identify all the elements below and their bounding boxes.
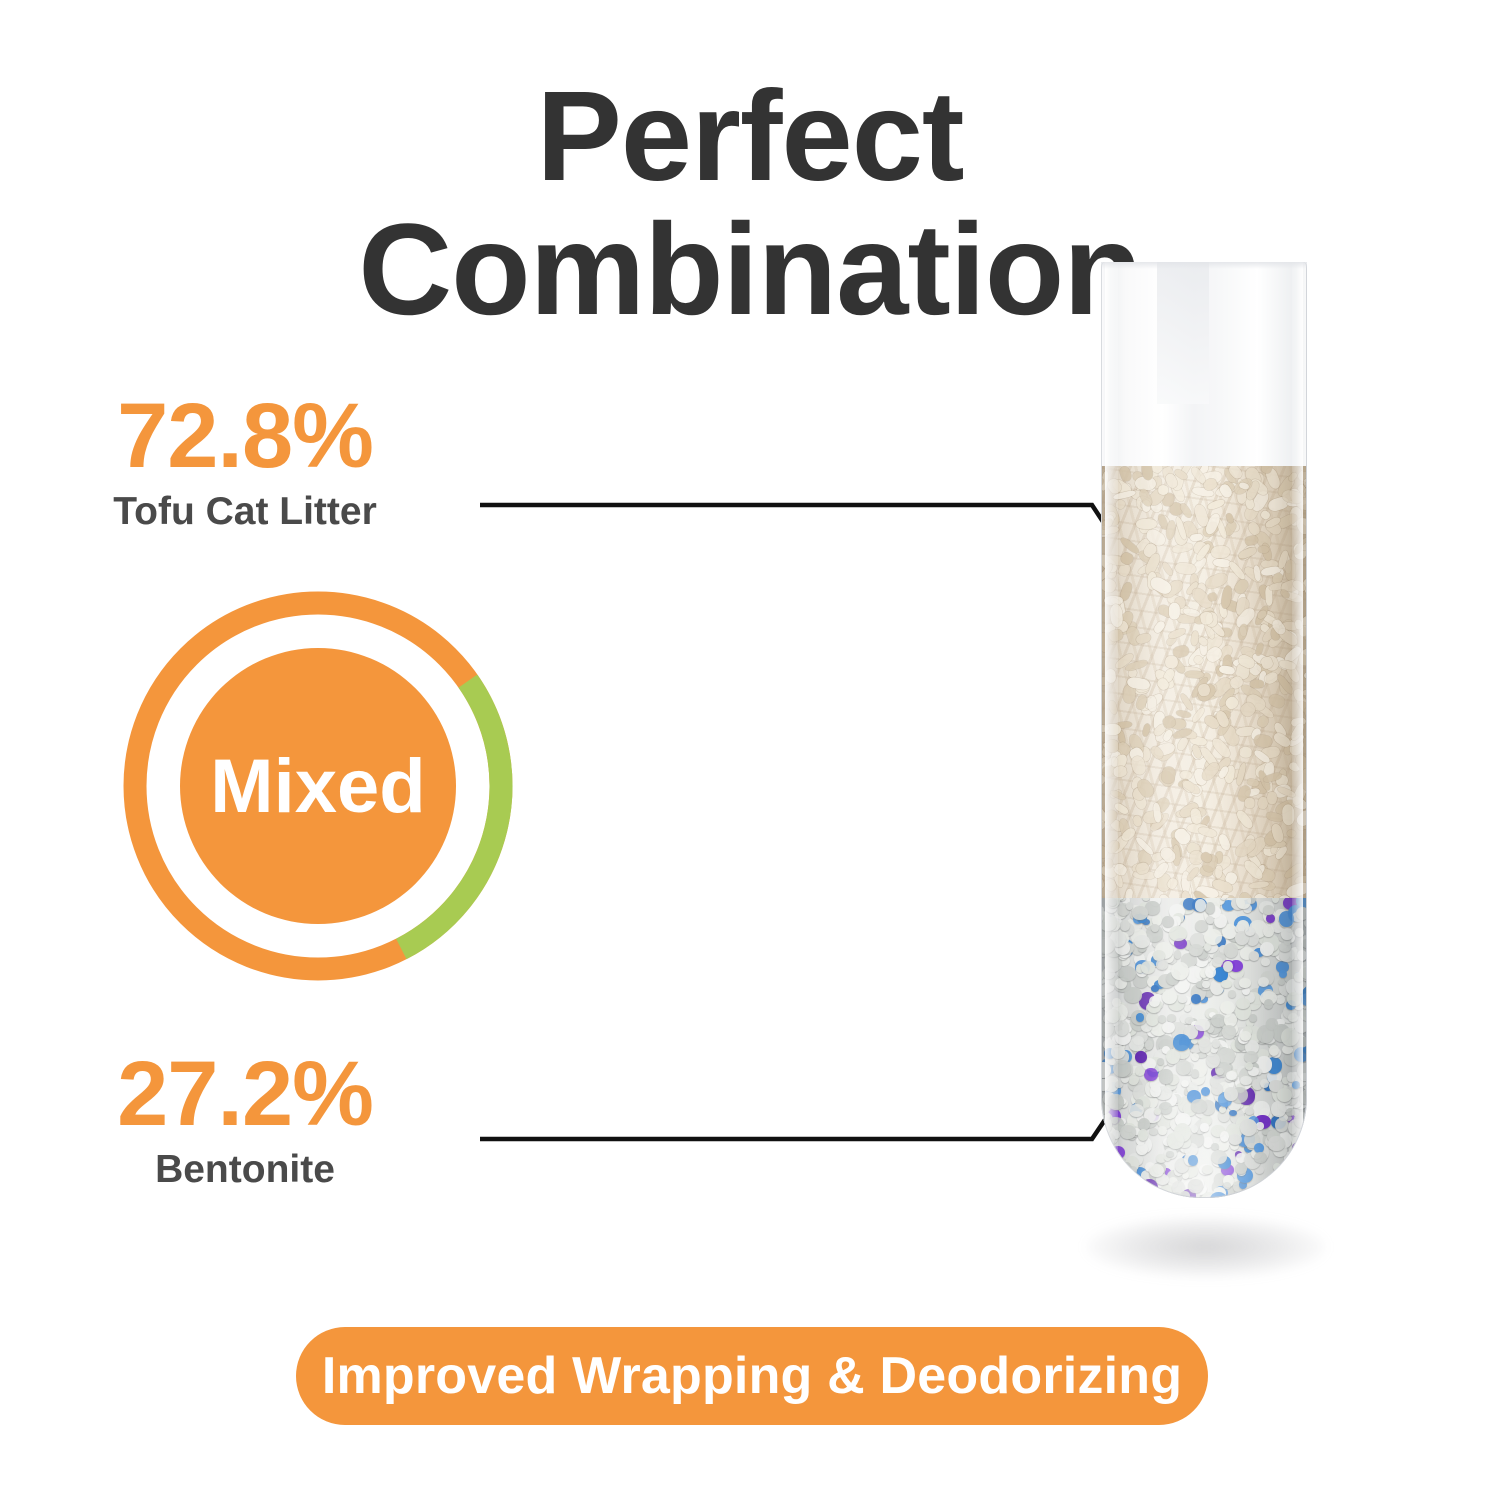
bentonite-grey-granule [1162, 990, 1177, 1004]
bentonite-grey-granule [1205, 902, 1216, 913]
feature-banner[interactable]: Improved Wrapping & Deodorizing [296, 1327, 1208, 1425]
bentonite-grey-granule [1176, 1060, 1190, 1075]
bentonite-grey-granule [1200, 1123, 1209, 1131]
bentonite-grey-granule [1296, 907, 1307, 920]
bentonite-grey-granule [1108, 1094, 1124, 1110]
bentonite-grey-granule [1104, 1133, 1115, 1145]
tofu-pellet [1141, 723, 1150, 737]
tofu-pellet [1301, 768, 1307, 791]
bentonite-grey-granule [1145, 1040, 1154, 1050]
bentonite-grey-granule [1191, 1053, 1199, 1061]
bentonite-grey-granule [1289, 1126, 1297, 1134]
bentonite-grey-granule [1211, 1143, 1219, 1150]
bentonite-grey-granule [1254, 1152, 1267, 1163]
bentonite-grey-granule [1245, 1062, 1253, 1070]
bentonite-grey-granule [1301, 967, 1307, 979]
tofu-pellet [1267, 692, 1286, 709]
bentonite-grey-granule [1138, 1118, 1150, 1130]
bentonite-grey-granule [1296, 1185, 1306, 1193]
bentonite-grey-granule [1205, 966, 1216, 978]
bentonite-grey-granule [1178, 995, 1187, 1002]
bentonite-grey-granule [1202, 1165, 1213, 1174]
bentonite-grey-granule [1226, 1071, 1236, 1080]
bentonite-grey-granule [1141, 961, 1155, 973]
callout-bentonite-percent: 27.2% [35, 1048, 455, 1140]
tofu-pellet [1115, 499, 1127, 511]
bentonite-blue-granule [1173, 1034, 1190, 1051]
tofu-pellet [1282, 804, 1294, 826]
bentonite-grey-granule [1272, 898, 1279, 903]
bentonite-grey-granule [1158, 1126, 1166, 1135]
bentonite-grey-granule [1108, 898, 1117, 906]
bentonite-grey-granule [1142, 898, 1150, 901]
bentonite-grey-granule [1295, 928, 1304, 937]
tofu-pellet [1180, 770, 1192, 779]
bentonite-grey-granule [1279, 942, 1291, 952]
test-tube [1101, 262, 1307, 1198]
bentonite-grey-granule [1204, 943, 1211, 951]
bentonite-grey-granule [1182, 1172, 1189, 1180]
bentonite-grey-granule [1120, 1125, 1136, 1139]
bentonite-grey-granule [1283, 1186, 1292, 1195]
tofu-pellet [1235, 808, 1256, 830]
title-line-1: Perfect [0, 72, 1500, 203]
bentonite-grey-granule [1169, 1192, 1181, 1198]
bentonite-grey-granule [1224, 1087, 1237, 1101]
tofu-pellet [1104, 595, 1123, 604]
bentonite-grey-granule [1149, 1128, 1157, 1135]
tofu-pellet [1267, 791, 1277, 803]
tofu-pellet [1161, 561, 1175, 577]
bentonite-grey-granule [1281, 928, 1292, 939]
bentonite-purple-granule [1292, 1141, 1307, 1156]
tofu-pellet [1238, 891, 1255, 898]
bentonite-grey-granule [1184, 1004, 1192, 1012]
tofu-pellet [1169, 603, 1180, 620]
bentonite-grey-granule [1300, 1073, 1307, 1082]
tofu-pellet [1304, 634, 1307, 643]
bentonite-grey-granule [1162, 916, 1173, 928]
bentonite-grey-granule [1101, 1180, 1113, 1191]
bentonite-grey-granule [1273, 1163, 1281, 1171]
tofu-pellet [1111, 757, 1118, 767]
leader-line-top [480, 505, 1140, 578]
callout-bentonite-label: Bentonite [35, 1148, 455, 1193]
tofu-pellet [1287, 829, 1297, 837]
bentonite-grey-granule [1264, 999, 1274, 1009]
bentonite-grey-granule [1211, 1083, 1223, 1095]
bentonite-grey-granule [1111, 1045, 1126, 1058]
bentonite-grey-granule [1162, 1022, 1174, 1034]
tofu-pellet [1295, 516, 1307, 537]
bentonite-grey-granule [1299, 1091, 1307, 1104]
bentonite-grey-granule [1260, 942, 1274, 957]
bentonite-grey-granule [1146, 1012, 1159, 1026]
tofu-pellet [1294, 619, 1302, 630]
bentonite-grey-granule [1245, 927, 1255, 935]
tofu-pellet [1168, 627, 1187, 640]
bentonite-grey-granule [1202, 981, 1209, 988]
tofu-pellet [1217, 832, 1232, 851]
bentonite-grey-granule [1257, 1025, 1274, 1043]
bentonite-grey-granule [1276, 995, 1285, 1004]
bentonite-grey-granule [1160, 1193, 1168, 1198]
bentonite-blue-granule [1151, 985, 1159, 992]
bentonite-grey-granule [1222, 1025, 1237, 1038]
tofu-pellet [1165, 656, 1178, 668]
bentonite-grey-granule [1249, 951, 1259, 961]
bentonite-grey-granule [1167, 1014, 1176, 1022]
tofu-pellet [1208, 592, 1219, 602]
tofu-pellet [1179, 502, 1194, 519]
bentonite-grey-granule [1136, 1143, 1148, 1155]
tofu-pellet [1106, 739, 1119, 752]
bentonite-blue-granule [1301, 993, 1308, 1005]
bentonite-grey-granule [1239, 978, 1250, 988]
callout-tofu: 72.8% Tofu Cat Litter [35, 390, 455, 535]
tofu-pellet [1175, 710, 1191, 719]
bentonite-grey-granule [1236, 998, 1250, 1009]
bentonite-grey-granule [1181, 1080, 1189, 1087]
bentonite-grey-granule [1199, 1039, 1211, 1053]
tofu-pellet [1136, 519, 1157, 529]
tofu-pellet [1260, 509, 1272, 521]
bentonite-blue-granule [1201, 1087, 1210, 1097]
bentonite-grey-granule [1240, 1031, 1251, 1041]
bentonite-purple-granule [1111, 1146, 1125, 1159]
bentonite-grey-granule [1132, 906, 1148, 919]
tofu-pellet [1235, 762, 1247, 786]
bentonite-grey-granule [1260, 1079, 1269, 1089]
bentonite-grey-granule [1228, 990, 1236, 998]
bentonite-grey-granule [1221, 980, 1231, 988]
infographic-canvas: Perfect Combination 72.8% Tofu Cat Litte… [0, 0, 1500, 1500]
bentonite-grey-granule [1262, 1187, 1271, 1194]
bentonite-grey-granule [1171, 962, 1188, 981]
bentonite-grey-granule [1220, 1001, 1235, 1015]
bentonite-grey-granule [1244, 1191, 1261, 1198]
bentonite-grey-granule [1223, 961, 1233, 972]
bentonite-grey-granule [1169, 926, 1187, 941]
bentonite-grey-granule [1212, 957, 1223, 967]
bentonite-grey-granule [1195, 1019, 1209, 1031]
tofu-pellet [1239, 746, 1252, 758]
bentonite-grey-granule [1261, 958, 1269, 965]
bentonite-blue-granule [1279, 970, 1287, 978]
test-tube-headspace [1101, 262, 1307, 466]
tofu-pellet [1133, 814, 1143, 827]
bentonite-grey-granule [1166, 1151, 1173, 1157]
bentonite-grey-granule [1249, 1014, 1257, 1022]
bentonite-layer [1101, 898, 1307, 1198]
callout-tofu-percent: 72.8% [35, 390, 455, 482]
bentonite-grey-granule [1124, 987, 1142, 1003]
tofu-pellet [1285, 559, 1296, 580]
bentonite-grey-granule [1306, 907, 1307, 921]
bentonite-grey-granule [1271, 1101, 1286, 1117]
tofu-pellet [1113, 766, 1127, 778]
bentonite-grey-granule [1102, 968, 1114, 979]
bentonite-blue-granule [1188, 1155, 1198, 1166]
callout-bentonite: 27.2% Bentonite [35, 1048, 455, 1193]
bentonite-grey-granule [1101, 914, 1117, 930]
bentonite-blue-granule [1279, 911, 1294, 927]
tofu-pellet [1245, 797, 1255, 809]
tofu-pellet [1207, 498, 1226, 511]
tofu-pellet [1250, 680, 1264, 688]
bentonite-grey-granule [1174, 950, 1182, 958]
bentonite-blue-granule [1140, 1186, 1156, 1198]
bentonite-grey-granule [1268, 1136, 1284, 1151]
bentonite-grey-granule [1240, 1076, 1251, 1085]
tofu-pellet [1190, 631, 1198, 647]
bentonite-grey-granule [1297, 950, 1307, 961]
bentonite-grey-granule [1120, 920, 1130, 931]
tofu-pellet [1197, 825, 1217, 838]
bentonite-grey-granule [1224, 943, 1239, 959]
bentonite-grey-granule [1256, 1122, 1264, 1129]
bentonite-grey-granule [1263, 905, 1273, 915]
tofu-pellet [1152, 620, 1167, 635]
bentonite-grey-granule [1216, 1068, 1223, 1075]
test-tube-shadow [1086, 1216, 1326, 1278]
bentonite-grey-granule [1229, 1134, 1241, 1144]
tofu-pellet [1211, 545, 1231, 557]
bentonite-grey-granule [1244, 1051, 1258, 1063]
bentonite-grey-granule [1302, 939, 1307, 948]
tofu-pellet [1285, 880, 1307, 898]
tofu-litter-layer [1101, 466, 1307, 898]
bentonite-grey-granule [1129, 1175, 1136, 1183]
tofu-pellet [1124, 888, 1133, 898]
tofu-pellet [1108, 700, 1118, 716]
bentonite-grey-granule [1214, 914, 1227, 928]
bentonite-grey-granule [1113, 1060, 1131, 1077]
bentonite-grey-granule [1117, 1175, 1126, 1183]
tofu-pellet [1304, 671, 1307, 681]
bentonite-grey-granule [1191, 1099, 1207, 1113]
bentonite-grey-granule [1189, 944, 1203, 956]
feature-banner-text: Improved Wrapping & Deodorizing [322, 1346, 1182, 1406]
bentonite-grey-granule [1159, 1069, 1173, 1083]
tofu-pellet [1258, 546, 1269, 554]
bentonite-grey-granule [1275, 1118, 1288, 1132]
tofu-pellet [1214, 864, 1222, 878]
donut-center-label: Mixed [112, 580, 524, 992]
bentonite-grey-granule [1287, 1072, 1296, 1081]
tofu-pellet [1105, 669, 1116, 684]
bentonite-grey-granule [1188, 1179, 1203, 1193]
bentonite-purple-granule [1144, 1068, 1157, 1081]
bentonite-grey-granule [1134, 935, 1150, 949]
bentonite-grey-granule [1277, 1088, 1293, 1102]
bentonite-grey-granule [1294, 1112, 1307, 1128]
bentonite-blue-granule [1136, 1013, 1145, 1022]
bentonite-grey-granule [1115, 1020, 1129, 1035]
bentonite-grey-granule [1138, 1129, 1149, 1141]
bentonite-grey-granule [1263, 925, 1273, 936]
bentonite-blue-granule [1191, 994, 1201, 1004]
bentonite-grey-granule [1129, 1038, 1143, 1051]
test-tube-glass-body [1101, 262, 1307, 1198]
leader-line-bottom [480, 1068, 1140, 1139]
bentonite-grey-granule [1240, 1119, 1257, 1136]
bentonite-grey-granule [1220, 1131, 1229, 1141]
bentonite-grey-granule [1150, 1085, 1161, 1097]
bentonite-grey-granule [1156, 959, 1168, 970]
bentonite-grey-granule [1191, 1038, 1198, 1044]
bentonite-purple-granule [1135, 1051, 1146, 1063]
tofu-pellet [1253, 734, 1272, 748]
tofu-pellet [1184, 671, 1203, 679]
donut-chart: Mixed [112, 580, 524, 992]
tofu-pellet [1104, 859, 1113, 869]
bentonite-grey-granule [1167, 1132, 1184, 1149]
callout-tofu-label: Tofu Cat Litter [35, 490, 455, 535]
bentonite-grey-granule [1135, 1066, 1145, 1076]
bentonite-grey-granule [1195, 899, 1207, 912]
bentonite-grey-granule [1281, 1028, 1299, 1047]
tofu-pellet [1174, 561, 1196, 575]
